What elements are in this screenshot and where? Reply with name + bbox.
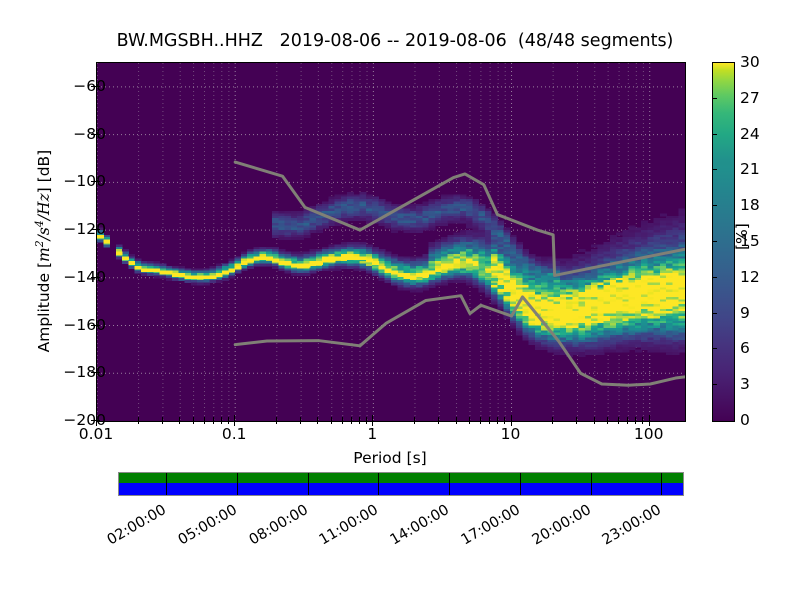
x-tick-mark-minor (138, 420, 139, 424)
x-tick-mark-inner (438, 417, 439, 420)
x-tick-mark-inner (480, 417, 481, 420)
x-tick-mark-inner (552, 417, 553, 420)
colorbar-tick-label: 12 (740, 268, 760, 286)
timeline-tick-mark (661, 473, 662, 495)
timeline-time-label: 14:00:00 (388, 502, 452, 548)
colorbar-tick-label: 9 (740, 304, 750, 322)
x-tick-mark-inner (456, 417, 457, 420)
x-tick-label: 100 (634, 425, 664, 443)
colorbar-tick-mark (712, 313, 717, 314)
x-tick-mark-inner (469, 417, 470, 420)
timeline-time-label: 02:00:00 (105, 502, 169, 548)
x-tick-mark-inner (497, 417, 498, 420)
x-tick-mark-minor (366, 420, 367, 424)
colorbar-tick-label: 18 (740, 196, 760, 214)
x-tick-label: 1 (367, 425, 377, 443)
colorbar-tick-mark (712, 205, 717, 206)
colorbar-tick-label: 24 (740, 125, 760, 143)
ppsd-plot-area (96, 62, 686, 422)
timeline-tick-mark (166, 473, 167, 495)
x-axis-label: Period [s] (96, 449, 684, 467)
x-tick-mark-minor (497, 420, 498, 424)
x-tick-mark-inner (204, 417, 205, 420)
timeline-time-label: 08:00:00 (246, 502, 310, 548)
x-tick-mark-minor (456, 420, 457, 424)
x-tick-mark-minor (552, 420, 553, 424)
ppsd-density-canvas (97, 63, 685, 421)
x-tick-mark-minor (342, 420, 343, 424)
x-tick-mark-minor (276, 420, 277, 424)
timeline-tick-mark (449, 473, 450, 495)
colorbar-tick-mark (712, 98, 717, 99)
timeline-time-label: 11:00:00 (317, 502, 381, 548)
colorbar-tick-label: 15 (740, 232, 760, 250)
x-tick-mark-inner (366, 417, 367, 420)
x-tick-mark-inner (162, 417, 163, 420)
x-tick-mark-inner (607, 417, 608, 420)
x-tick-mark-inner (372, 415, 373, 420)
colorbar (712, 62, 735, 422)
x-tick-mark-minor (179, 420, 180, 424)
x-tick-label: 0.01 (79, 425, 114, 443)
timeline-coverage-band (119, 483, 683, 495)
x-tick-mark-inner (642, 417, 643, 420)
x-tick-mark-minor (489, 420, 490, 424)
x-tick-label: 0.1 (222, 425, 247, 443)
x-tick-mark-minor (359, 420, 360, 424)
x-tick-mark-inner (618, 417, 619, 420)
x-tick-label: 10 (501, 425, 521, 443)
timeline-tick-mark (237, 473, 238, 495)
x-tick-mark-inner (627, 417, 628, 420)
y-axis-label-math: m2/s4/Hz (35, 193, 53, 262)
x-tick-mark-inner (635, 417, 636, 420)
x-tick-mark-minor (576, 420, 577, 424)
x-tick-mark-inner (331, 417, 332, 420)
x-tick-mark-inner (414, 417, 415, 420)
y-tick-label: −60 (73, 77, 106, 95)
colorbar-tick-label: 21 (740, 160, 760, 178)
x-tick-mark-minor (193, 420, 194, 424)
x-tick-mark-minor (162, 420, 163, 424)
x-tick-mark-minor (594, 420, 595, 424)
y-axis-label: Amplitude [m2/s4/Hz] [dB] (33, 106, 53, 396)
x-tick-mark-minor (221, 420, 222, 424)
x-tick-mark-inner (359, 417, 360, 420)
x-tick-mark-minor (414, 420, 415, 424)
timeline-tick-mark (308, 473, 309, 495)
x-tick-mark-inner (179, 417, 180, 420)
timeline-tick-mark (520, 473, 521, 495)
x-tick-mark-minor (300, 420, 301, 424)
timeline-time-label: 17:00:00 (459, 502, 523, 548)
y-tick-label: −180 (63, 363, 106, 381)
x-tick-mark-minor (480, 420, 481, 424)
colorbar-tick-mark (712, 169, 717, 170)
x-tick-mark-minor (317, 420, 318, 424)
x-tick-mark-minor (331, 420, 332, 424)
colorbar-tick-label: 27 (740, 89, 760, 107)
figure-title: BW.MGSBH..HHZ 2019-08-06 -- 2019-08-06 (… (0, 31, 790, 51)
colorbar-tick-mark (712, 277, 717, 278)
colorbar-tick-label: 30 (740, 53, 760, 71)
x-tick-mark-minor (204, 420, 205, 424)
x-tick-mark-inner (489, 417, 490, 420)
x-tick-mark-inner (576, 417, 577, 420)
data-coverage-timeline[interactable] (118, 472, 684, 496)
colorbar-tick-label: 0 (740, 411, 750, 429)
x-tick-mark-inner (594, 417, 595, 420)
y-tick-label: −100 (63, 172, 106, 190)
grid-layer (97, 63, 685, 421)
x-tick-mark-minor (438, 420, 439, 424)
y-tick-label: −80 (73, 125, 106, 143)
x-tick-mark-inner (511, 415, 512, 420)
x-tick-mark-minor (213, 420, 214, 424)
x-tick-mark-minor (351, 420, 352, 424)
x-tick-mark-inner (317, 417, 318, 420)
timeline-tick-mark (591, 473, 592, 495)
colorbar-tick-mark (712, 348, 717, 349)
y-axis-label-suffix: ] [dB] (35, 150, 53, 194)
y-axis-label-prefix: Amplitude [ (35, 262, 53, 352)
x-tick-mark-minor (607, 420, 608, 424)
y-tick-label: −140 (63, 268, 106, 286)
x-tick-mark-inner (649, 415, 650, 420)
x-tick-mark-inner (228, 417, 229, 420)
x-tick-mark-inner (221, 417, 222, 420)
y-tick-label: −160 (63, 316, 106, 334)
x-tick-mark-inner (351, 417, 352, 420)
x-tick-mark-minor (504, 420, 505, 424)
x-tick-mark-minor (618, 420, 619, 424)
colorbar-tick-mark (712, 134, 717, 135)
x-tick-mark-minor (469, 420, 470, 424)
ppsd-figure: BW.MGSBH..HHZ 2019-08-06 -- 2019-08-06 (… (0, 0, 800, 600)
x-tick-mark-inner (213, 417, 214, 420)
x-tick-mark-minor (627, 420, 628, 424)
y-tick-label: −120 (63, 220, 106, 238)
x-tick-mark-minor (635, 420, 636, 424)
x-tick-mark-inner (96, 415, 97, 420)
colorbar-tick-mark (712, 384, 717, 385)
x-tick-mark-inner (300, 417, 301, 420)
x-tick-mark-minor (642, 420, 643, 424)
timeline-time-label: 23:00:00 (600, 502, 664, 548)
colorbar-tick-mark (712, 241, 717, 242)
x-tick-mark-inner (276, 417, 277, 420)
x-tick-mark-inner (504, 417, 505, 420)
timeline-time-label: 20:00:00 (529, 502, 593, 548)
colorbar-tick-label: 3 (740, 375, 750, 393)
x-tick-mark-inner (342, 417, 343, 420)
x-tick-mark-inner (138, 417, 139, 420)
timeline-tick-mark (378, 473, 379, 495)
colorbar-tick-label: 6 (740, 339, 750, 357)
x-tick-mark-inner (234, 415, 235, 420)
density-layer (97, 192, 685, 357)
x-tick-mark-inner (193, 417, 194, 420)
x-tick-mark-minor (228, 420, 229, 424)
timeline-data-band (119, 473, 683, 483)
timeline-time-label: 05:00:00 (176, 502, 240, 548)
